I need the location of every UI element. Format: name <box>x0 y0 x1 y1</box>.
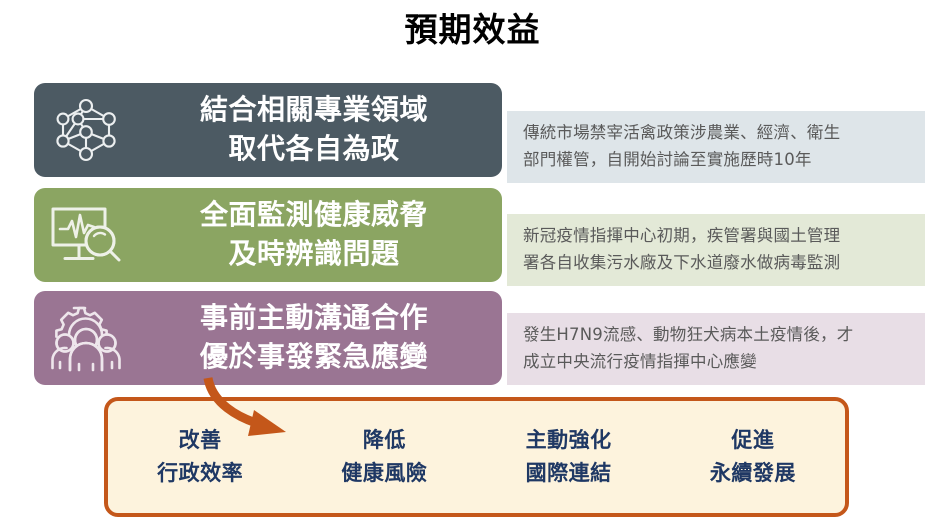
benefit-note-1: 傳統市場禁宰活禽政策涉農業、經濟、衛生 部門權管，自開始討論至實施歷時10年 <box>507 111 925 183</box>
benefit-headline-1-line1: 結合相關專業領域 <box>200 93 428 126</box>
outcome-item-2-line1: 降低 <box>363 428 406 452</box>
benefit-pill-3: 事前主動溝通合作 優於事發緊急應變 <box>34 291 502 385</box>
outcome-item-4-line2: 永續發展 <box>661 457 845 490</box>
outcome-item-3: 主動強化 國際連結 <box>477 424 661 489</box>
benefit-pill-1: 結合相關專業領域 取代各自為政 <box>34 83 502 177</box>
benefit-pill-2: 全面監測健康威脅 及時辨識問題 <box>34 188 502 282</box>
benefit-headline-3: 事前主動溝通合作 優於事發緊急應變 <box>138 299 502 376</box>
benefit-note-2-line1: 新冠疫情指揮中心初期，疾管署與國土管理 <box>523 226 840 245</box>
outcome-item-3-line1: 主動強化 <box>526 428 612 452</box>
outcome-item-1: 改善 行政效率 <box>108 424 292 489</box>
benefit-headline-2: 全面監測健康威脅 及時辨識問題 <box>138 196 502 273</box>
outcome-item-2-line2: 健康風險 <box>292 457 476 490</box>
network-nodes-icon <box>34 95 138 165</box>
benefit-note-2-line2: 署各自收集污水廠及下水道廢水做病毒監測 <box>523 250 911 277</box>
benefit-note-3-line2: 成立中央流行疫情指揮中心應變 <box>523 349 911 376</box>
page-title: 預期效益 <box>0 8 945 52</box>
gear-team-icon <box>34 302 138 374</box>
benefit-note-1-line1: 傳統市場禁宰活禽政策涉農業、經濟、衛生 <box>523 123 840 142</box>
benefit-headline-2-line1: 全面監測健康威脅 <box>200 198 428 231</box>
outcome-summary-box: 改善 行政效率 降低 健康風險 主動強化 國際連結 促進 永續發展 <box>104 397 849 517</box>
benefit-headline-3-line1: 事前主動溝通合作 <box>200 301 428 334</box>
benefit-note-3-line1: 發生H7N9流感、動物狂犬病本土疫情後，才 <box>523 325 853 344</box>
outcome-item-2: 降低 健康風險 <box>292 424 476 489</box>
benefit-headline-2-line2: 及時辨識問題 <box>138 235 490 274</box>
outcome-item-1-line1: 改善 <box>179 428 222 452</box>
benefit-headline-1-line2: 取代各自為政 <box>138 130 490 169</box>
benefit-note-2: 新冠疫情指揮中心初期，疾管署與國土管理 署各自收集污水廠及下水道廢水做病毒監測 <box>507 214 925 286</box>
benefit-headline-3-line2: 優於事發緊急應變 <box>138 338 490 377</box>
benefit-note-3: 發生H7N9流感、動物狂犬病本土疫情後，才 成立中央流行疫情指揮中心應變 <box>507 313 925 385</box>
outcome-item-3-line2: 國際連結 <box>477 457 661 490</box>
benefit-note-1-line2: 部門權管，自開始討論至實施歷時10年 <box>523 147 911 174</box>
outcome-item-4-line1: 促進 <box>731 428 774 452</box>
outcome-item-1-line2: 行政效率 <box>108 457 292 490</box>
outcome-item-4: 促進 永續發展 <box>661 424 845 489</box>
monitor-ekg-magnifier-icon <box>34 201 138 269</box>
benefit-headline-1: 結合相關專業領域 取代各自為政 <box>138 91 502 168</box>
